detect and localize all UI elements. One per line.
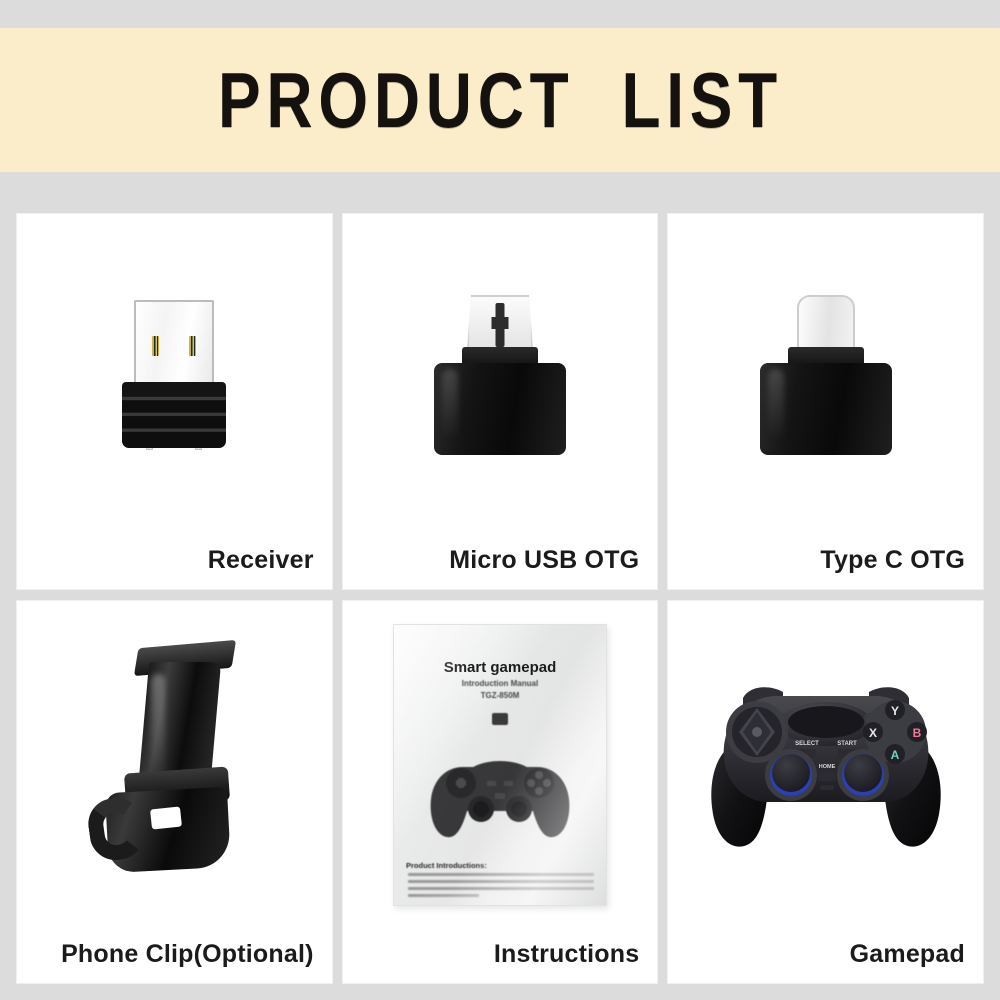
phone-clip-illustration bbox=[17, 601, 332, 929]
adapter-body bbox=[760, 363, 892, 455]
dongle-body bbox=[122, 382, 226, 448]
adapter-body bbox=[434, 363, 566, 455]
gamepad-button-x-label: X bbox=[869, 726, 877, 740]
product-card-receiver[interactable]: Receiver bbox=[16, 213, 333, 590]
gamepad-button-b-label: B bbox=[912, 726, 921, 740]
micro-usb-plug bbox=[467, 295, 533, 351]
instructions-illustration: Smart gamepad Introduction Manual TGZ-85… bbox=[343, 601, 658, 929]
wireless-gamepad-controller-icon: Y X B A SELECT START HOME bbox=[691, 672, 961, 858]
gamepad-button-y-label: Y bbox=[891, 704, 899, 718]
type-c-otg-illustration bbox=[668, 214, 983, 535]
product-card-phone-clip[interactable]: Phone Clip(Optional) bbox=[16, 600, 333, 984]
usb-connector-shell bbox=[134, 300, 214, 386]
gamepad-button-a-label: A bbox=[890, 748, 899, 762]
gamepad-illustration: Y X B A SELECT START HOME bbox=[668, 601, 983, 929]
gamepad-left-analog-stick bbox=[765, 749, 817, 801]
product-label-phone-clip: Phone Clip(Optional) bbox=[61, 940, 314, 969]
micro-usb-tongue bbox=[495, 303, 504, 347]
gamepad-start-label: START bbox=[837, 741, 857, 747]
product-card-type-c-otg[interactable]: Type C OTG bbox=[667, 213, 984, 590]
booklet-section-heading: Product Introductions: bbox=[406, 861, 487, 870]
usb-nano-receiver-dongle-icon bbox=[122, 300, 226, 450]
product-card-instructions[interactable]: Smart gamepad Introduction Manual TGZ-85… bbox=[342, 600, 659, 984]
header-banner: PRODUCT LIST bbox=[0, 28, 1000, 172]
gamepad-right-analog-stick bbox=[837, 749, 889, 801]
product-label-receiver: Receiver bbox=[208, 546, 314, 575]
product-grid: Receiver Micro USB OTG bbox=[16, 213, 984, 984]
product-label-instructions: Instructions bbox=[494, 940, 639, 969]
receiver-illustration bbox=[17, 214, 332, 535]
product-card-gamepad[interactable]: Y X B A SELECT START HOME bbox=[667, 600, 984, 984]
clip-gloss-highlight bbox=[151, 674, 165, 780]
clip-slot-opening bbox=[150, 806, 182, 829]
product-list-page: PRODUCT LIST Receiver bbox=[0, 0, 1000, 1000]
gamepad-select-label: SELECT bbox=[795, 741, 819, 747]
booklet-body-text bbox=[408, 873, 594, 901]
type-c-otg-adapter-icon bbox=[760, 295, 892, 455]
instruction-manual-booklet-icon: Smart gamepad Introduction Manual TGZ-85… bbox=[393, 624, 607, 906]
product-card-micro-usb-otg[interactable]: Micro USB OTG bbox=[342, 213, 659, 590]
micro-usb-otg-illustration bbox=[343, 214, 658, 535]
gamepad-home-label: HOME bbox=[818, 764, 835, 770]
phone-clip-bracket-icon bbox=[79, 640, 269, 890]
booklet-title: Smart gamepad bbox=[394, 659, 606, 676]
product-label-type-c-otg: Type C OTG bbox=[820, 546, 965, 575]
booklet-gamepad-graphic bbox=[425, 737, 575, 849]
product-label-micro-usb-otg: Micro USB OTG bbox=[449, 546, 639, 575]
type-c-plug bbox=[797, 295, 855, 351]
booklet-subtitle: Introduction Manual bbox=[394, 679, 606, 688]
booklet-model-number: TGZ-850M bbox=[394, 691, 606, 700]
booklet-dongle-graphic bbox=[492, 713, 508, 725]
micro-usb-otg-adapter-icon bbox=[434, 295, 566, 455]
page-title: PRODUCT LIST bbox=[218, 55, 783, 146]
product-label-gamepad: Gamepad bbox=[850, 940, 965, 969]
